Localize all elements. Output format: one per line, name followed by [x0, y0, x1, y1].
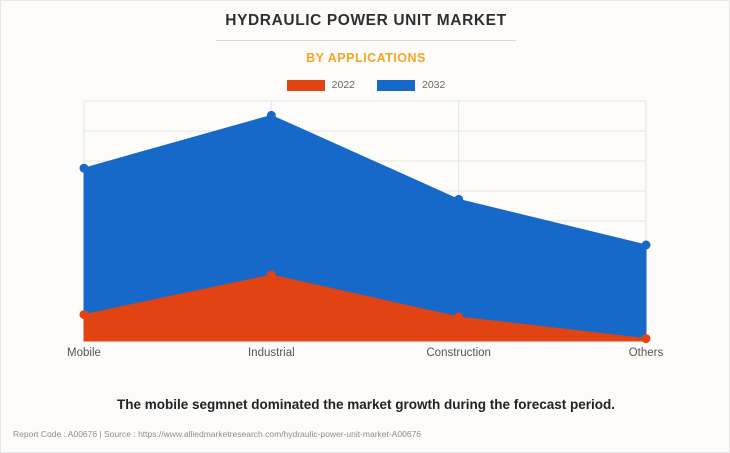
x-axis-labels: MobileIndustrialConstructionOthers [1, 347, 730, 365]
data-point-2022-Industrial[interactable] [267, 271, 276, 280]
series-areas [84, 115, 646, 341]
data-point-2032-Others[interactable] [642, 241, 651, 250]
x-axis-label-others: Others [629, 347, 664, 359]
x-axis-label-industrial: Industrial [248, 347, 295, 359]
x-axis-label-construction: Construction [426, 347, 491, 359]
legend-swatch-2032 [377, 80, 415, 91]
data-point-2022-Mobile[interactable] [80, 310, 89, 319]
data-point-2032-Mobile[interactable] [80, 164, 89, 173]
chart-subtitle: BY APPLICATIONS [1, 51, 730, 65]
chart-caption: The mobile segmnet dominated the market … [1, 397, 730, 412]
legend-swatch-2022 [287, 80, 325, 91]
title-divider [216, 40, 516, 41]
x-axis-label-mobile: Mobile [67, 347, 101, 359]
page-title: HYDRAULIC POWER UNIT MARKET [1, 12, 730, 30]
chart-screenshot: HYDRAULIC POWER UNIT MARKET BY APPLICATI… [0, 0, 730, 453]
legend-label-2032: 2032 [422, 79, 445, 91]
data-point-2032-Industrial[interactable] [267, 111, 276, 120]
data-point-2032-Construction[interactable] [454, 195, 463, 204]
chart-legend: 2022 2032 [1, 79, 730, 91]
footer-source: Report Code : A00676 | Source : https://… [13, 429, 421, 439]
plot-area [84, 101, 646, 341]
legend-item-2022[interactable]: 2022 [287, 79, 355, 91]
legend-item-2032[interactable]: 2032 [377, 79, 445, 91]
data-point-2022-Others[interactable] [642, 334, 651, 343]
area-chart-svg [84, 101, 646, 341]
legend-label-2022: 2022 [332, 79, 355, 91]
data-point-2022-Construction[interactable] [454, 313, 463, 322]
